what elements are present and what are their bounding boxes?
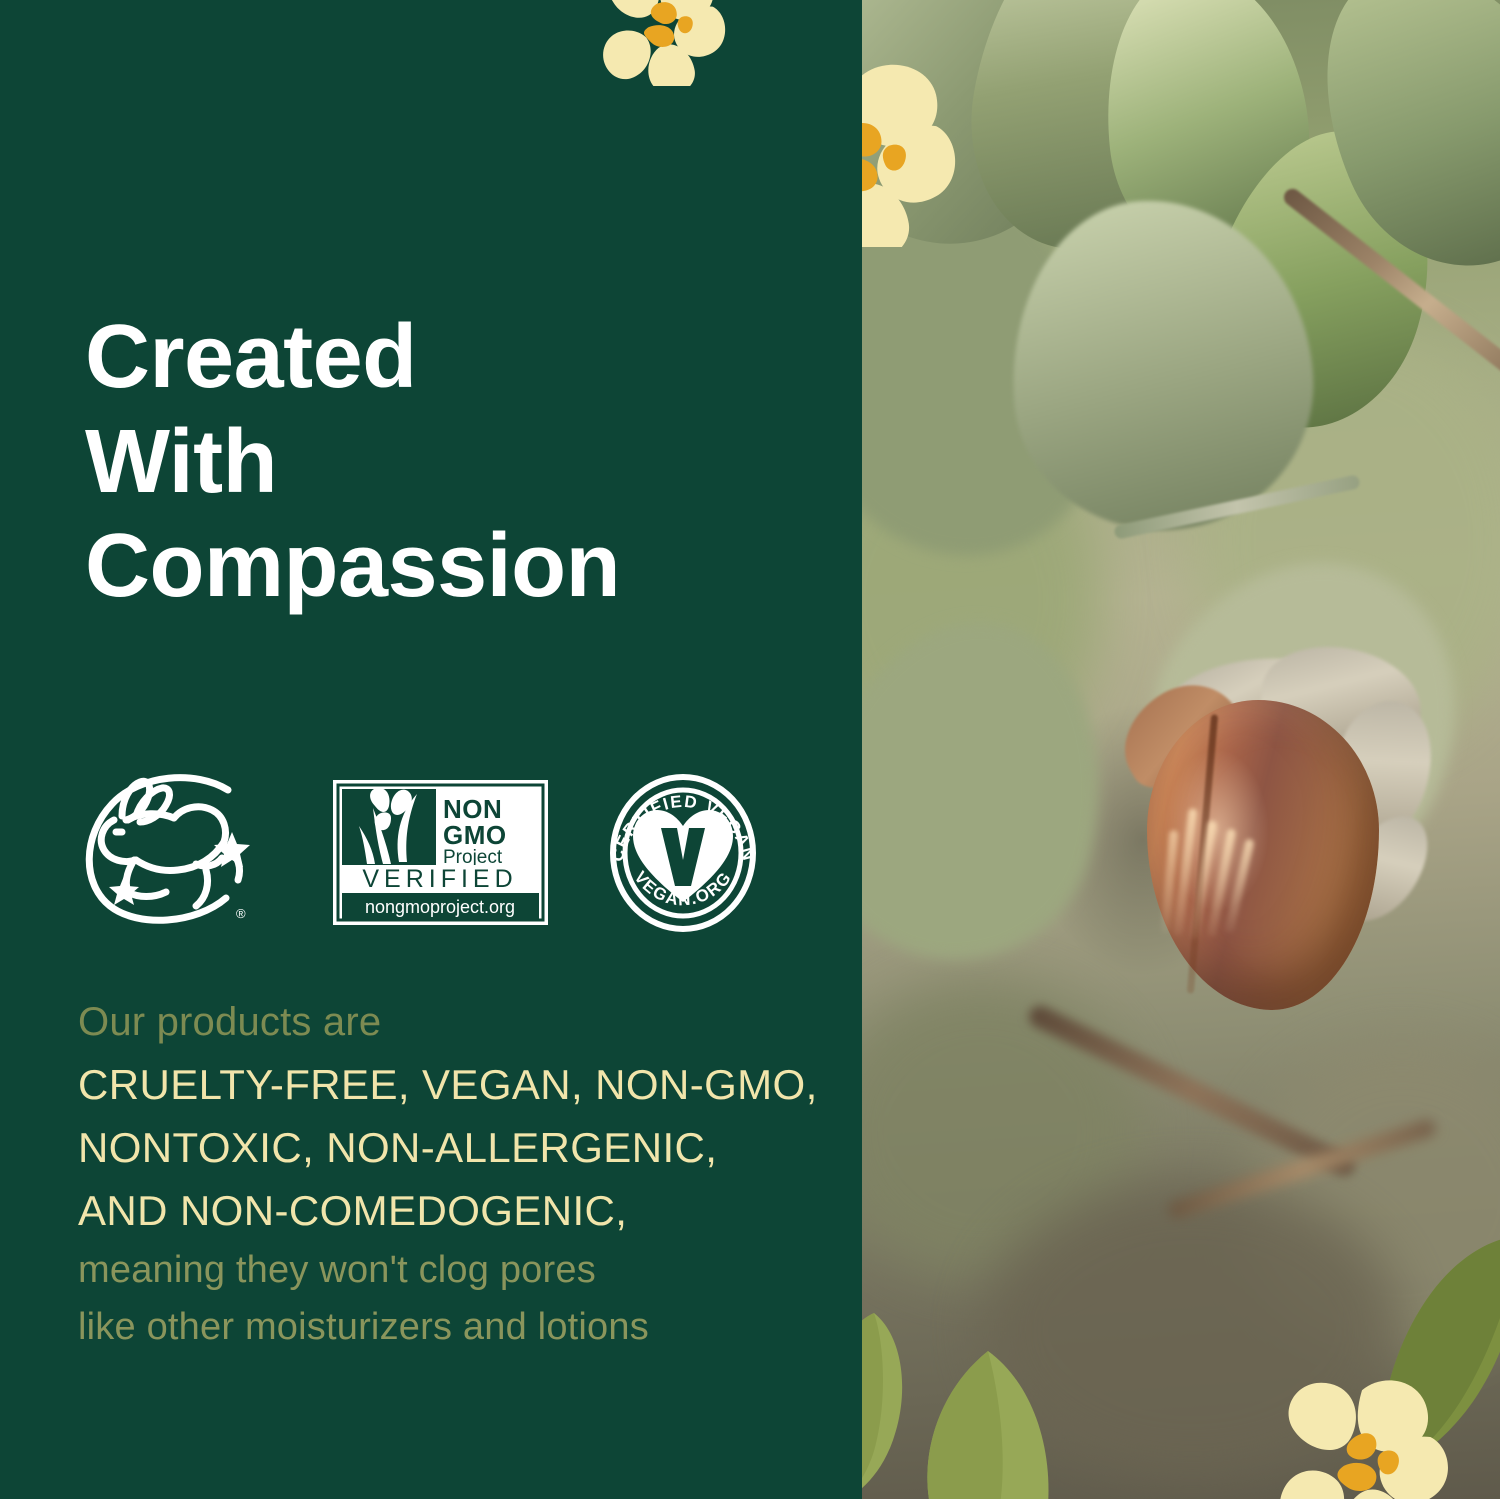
non-gmo-badge: NON GMO Project VERIFIED nongmoproject.o… [333,780,548,925]
non-gmo-url: nongmoproject.org [365,897,515,917]
photo-bokeh-blob [982,1180,1402,1480]
copy-claim-line-1: CRUELTY-FREE, VEGAN, NON-GMO, [78,1053,838,1116]
headline-line-3: Compassion [85,514,825,618]
copy-claim-line-2: NONTOXIC, NON-ALLERGENIC, [78,1116,838,1179]
headline-line-1: Created [85,305,825,409]
jojoba-photo [862,0,1500,1499]
body-copy: Our products are CRUELTY-FREE, VEGAN, NO… [78,992,838,1356]
non-gmo-project-verified-icon: NON GMO Project VERIFIED nongmoproject.o… [333,780,548,925]
page-title: Created With Compassion [85,305,825,618]
registered-mark: ® [236,906,246,921]
leaping-bunny-icon: ® [78,772,250,930]
copy-tail-line-2: like other moisturizers and lotions [78,1299,838,1356]
leaping-bunny-badge: ® [78,772,250,930]
certification-badges: ® [78,772,798,934]
certified-vegan-badge: CERTIFIED VEGAN VEGAN.ORG [603,774,763,932]
headline-line-2: With [85,410,825,514]
copy-tail-line-1: meaning they won't clog pores [78,1242,838,1299]
certified-vegan-icon: CERTIFIED VEGAN VEGAN.ORG [603,774,763,932]
jojoba-flower [600,0,728,86]
green-content-panel: Created With Compassion [0,0,862,1499]
non-gmo-line-2: GMO [443,820,507,850]
non-gmo-verified: VERIFIED [362,865,517,893]
copy-lead: Our products are [78,992,838,1053]
marketing-banner: Created With Compassion [0,0,1500,1499]
copy-claim-line-3: AND NON-COMEDOGENIC, [78,1179,838,1242]
